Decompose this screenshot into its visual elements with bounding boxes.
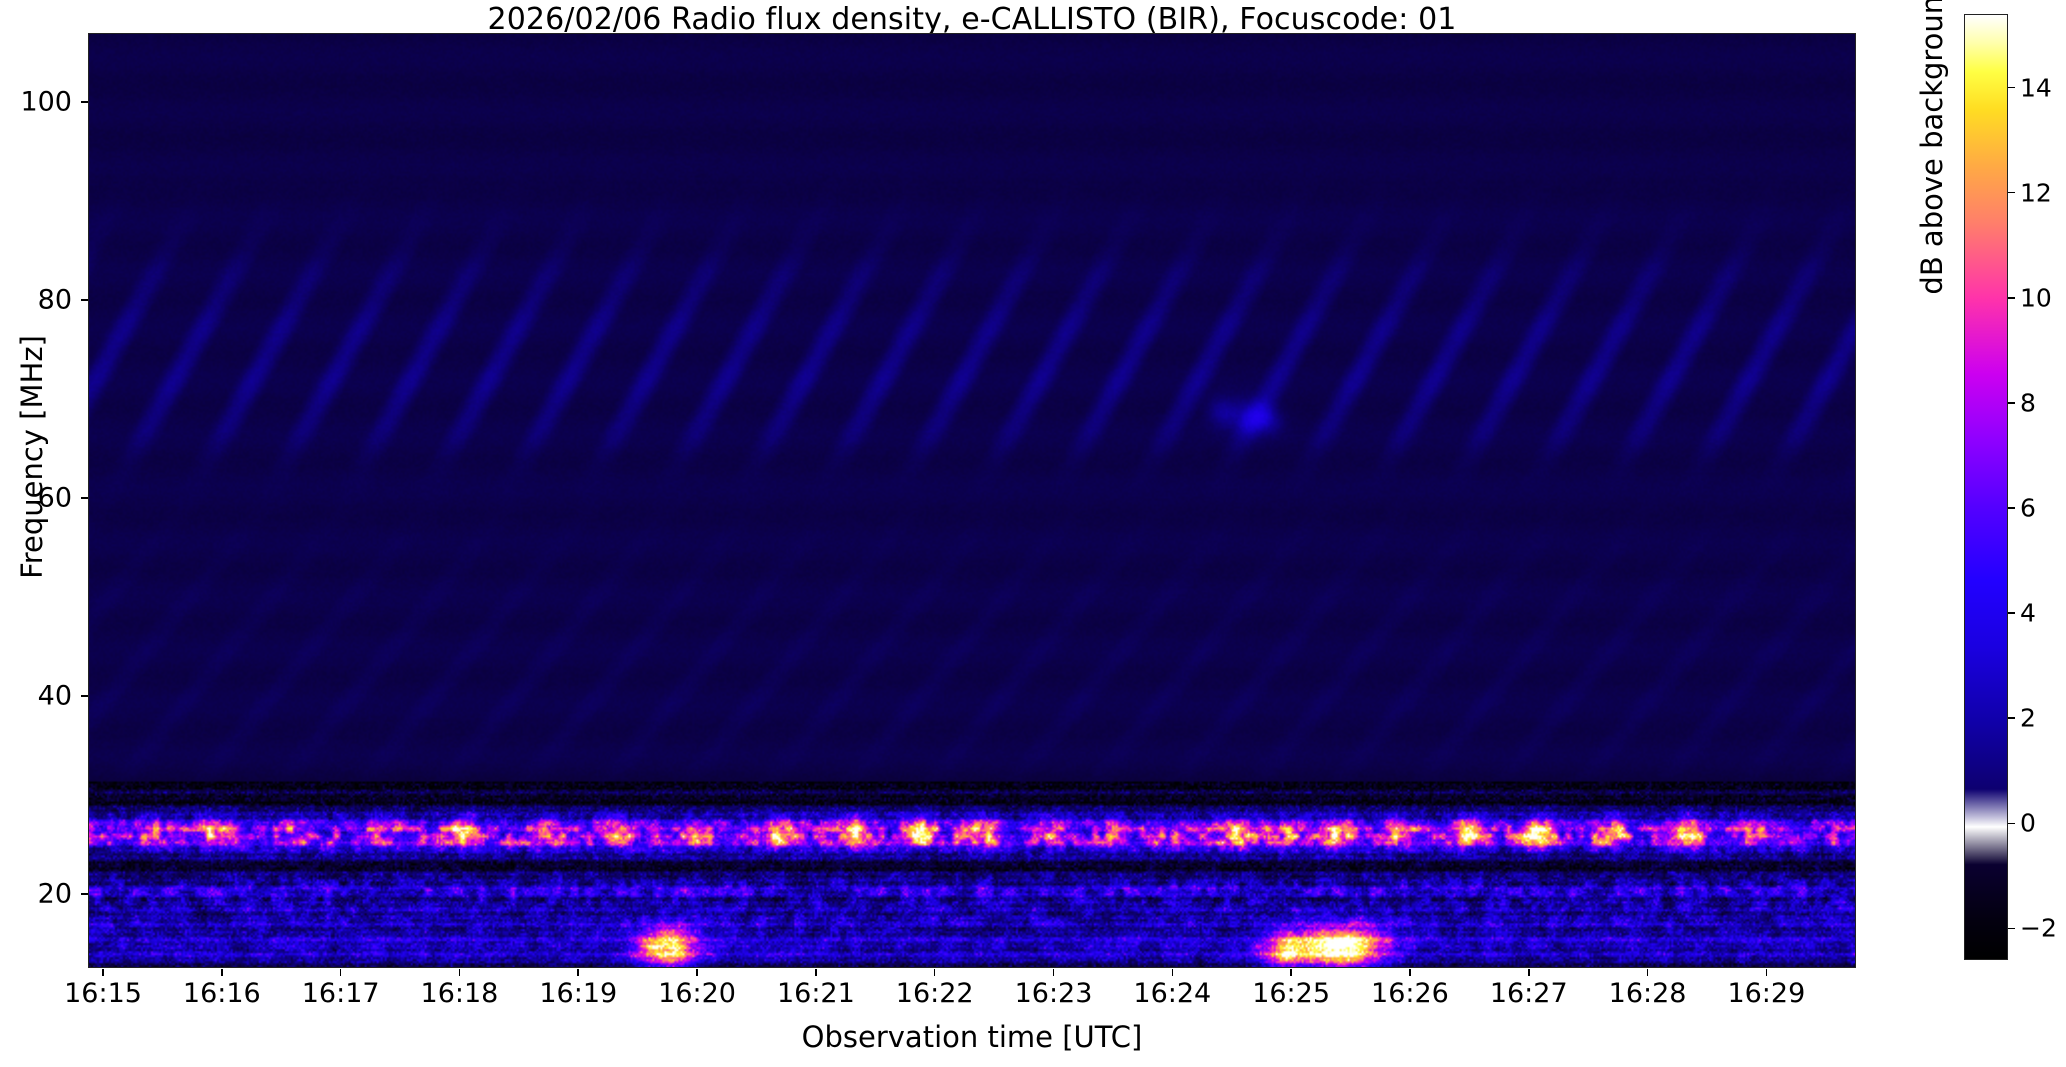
colorbar: −202468101214 bbox=[1964, 14, 2008, 960]
x-tick-mark bbox=[815, 969, 817, 976]
x-tick-label: 16:25 bbox=[1252, 978, 1330, 1009]
y-tick-mark bbox=[81, 299, 88, 301]
colorbar-tick-label: 4 bbox=[2020, 599, 2036, 628]
x-tick-mark bbox=[221, 969, 223, 976]
colorbar-tick-mark bbox=[2008, 87, 2015, 89]
x-tick-label: 16:22 bbox=[896, 978, 974, 1009]
x-tick-mark bbox=[1528, 969, 1530, 976]
x-tick-mark bbox=[577, 969, 579, 976]
y-tick-mark bbox=[81, 893, 88, 895]
colorbar-tick-mark bbox=[2008, 507, 2015, 509]
colorbar-tick-mark bbox=[2008, 928, 2015, 930]
colorbar-tick-mark bbox=[2008, 192, 2015, 194]
x-tick-label: 16:26 bbox=[1371, 978, 1449, 1009]
x-tick-label: 16:21 bbox=[777, 978, 855, 1009]
x-tick-label: 16:29 bbox=[1727, 978, 1805, 1009]
colorbar-tick-label: 12 bbox=[2020, 178, 2052, 207]
colorbar-label: dB above background bbox=[1915, 0, 1949, 486]
x-tick-mark bbox=[1647, 969, 1649, 976]
colorbar-tick-mark bbox=[2008, 612, 2015, 614]
colorbar-tick-label: 2 bbox=[2020, 704, 2036, 733]
x-tick-label: 16:16 bbox=[183, 978, 261, 1009]
colorbar-gradient bbox=[1964, 14, 2008, 960]
colorbar-tick-label: 0 bbox=[2020, 809, 2036, 838]
colorbar-tick-mark bbox=[2008, 402, 2015, 404]
x-tick-mark bbox=[1053, 969, 1055, 976]
y-tick-mark bbox=[81, 695, 88, 697]
x-tick-mark bbox=[1290, 969, 1292, 976]
x-tick-label: 16:24 bbox=[1133, 978, 1211, 1009]
colorbar-tick-label: 6 bbox=[2020, 494, 2036, 523]
y-tick-label: 80 bbox=[0, 285, 72, 316]
x-tick-mark bbox=[696, 969, 698, 976]
x-tick-mark bbox=[102, 969, 104, 976]
x-tick-mark bbox=[1766, 969, 1768, 976]
colorbar-tick-mark bbox=[2008, 717, 2015, 719]
x-tick-mark bbox=[934, 969, 936, 976]
spectrogram-figure: 2026/02/06 Radio flux density, e-CALLIST… bbox=[0, 0, 2066, 1067]
x-tick-label: 16:17 bbox=[302, 978, 380, 1009]
colorbar-tick-mark bbox=[2008, 823, 2015, 825]
colorbar-tick-mark bbox=[2008, 297, 2015, 299]
y-tick-mark bbox=[81, 497, 88, 499]
y-tick-mark bbox=[81, 101, 88, 103]
y-tick-label: 20 bbox=[0, 878, 72, 909]
x-tick-label: 16:27 bbox=[1490, 978, 1568, 1009]
colorbar-tick-label: −2 bbox=[2020, 914, 2057, 943]
colorbar-tick-label: 14 bbox=[2020, 73, 2052, 102]
x-tick-mark bbox=[340, 969, 342, 976]
page-title: 2026/02/06 Radio flux density, e-CALLIST… bbox=[88, 2, 1856, 37]
x-axis-label: Observation time [UTC] bbox=[88, 1020, 1856, 1054]
spectrogram-axes bbox=[88, 33, 1856, 968]
colorbar-tick-label: 8 bbox=[2020, 388, 2036, 417]
x-tick-label: 16:23 bbox=[1015, 978, 1093, 1009]
x-tick-label: 16:19 bbox=[539, 978, 617, 1009]
spectrogram-image bbox=[89, 34, 1855, 967]
x-tick-label: 16:28 bbox=[1609, 978, 1687, 1009]
x-tick-label: 16:20 bbox=[658, 978, 736, 1009]
x-tick-mark bbox=[1172, 969, 1174, 976]
x-tick-mark bbox=[459, 969, 461, 976]
spectrogram-canvas bbox=[89, 34, 1855, 967]
x-tick-mark bbox=[1409, 969, 1411, 976]
colorbar-tick-label: 10 bbox=[2020, 283, 2052, 312]
x-tick-label: 16:18 bbox=[421, 978, 499, 1009]
x-tick-label: 16:15 bbox=[64, 978, 142, 1009]
y-tick-label: 60 bbox=[0, 483, 72, 514]
y-tick-label: 40 bbox=[0, 680, 72, 711]
y-tick-label: 100 bbox=[0, 87, 72, 118]
